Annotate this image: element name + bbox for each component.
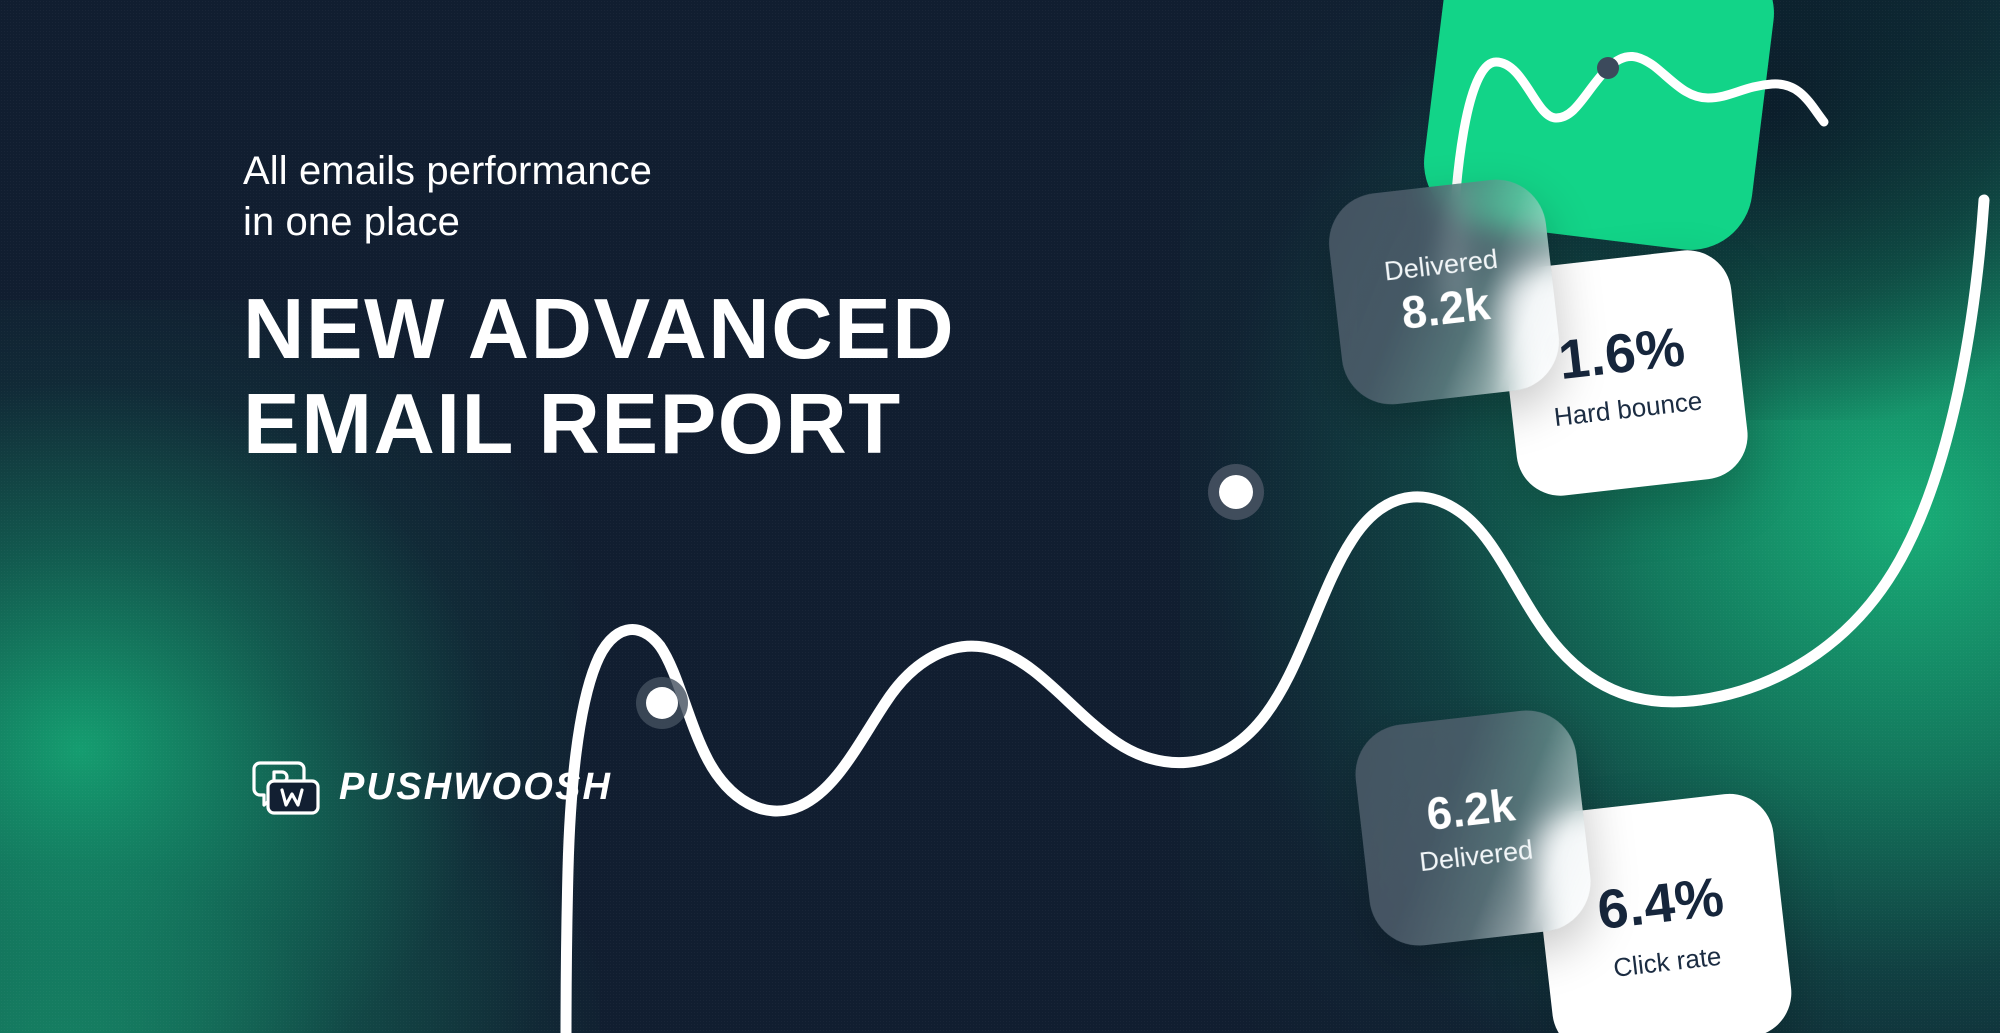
stat-card-value: 6.2k xyxy=(1424,779,1518,841)
stat-card-value: 6.4% xyxy=(1594,864,1727,942)
stat-card-delivered-8k[interactable]: Delivered 8.2k xyxy=(1324,174,1565,409)
marketing-banner: Delivered 8.2k 1.6% Hard bounce 6.2k Del… xyxy=(0,0,2000,1033)
stat-card-label: Delivered xyxy=(1418,834,1535,878)
stat-card-label: Click rate xyxy=(1612,940,1723,983)
stat-card-value: 1.6% xyxy=(1555,314,1688,392)
stat-card-label: Hard bounce xyxy=(1552,385,1703,433)
stat-card-value: 8.2k xyxy=(1399,278,1493,340)
stat-card-delivered-6k[interactable]: 6.2k Delivered xyxy=(1350,705,1596,951)
data-point-marker-icon xyxy=(1219,475,1253,509)
data-point-marker-icon xyxy=(646,687,678,719)
